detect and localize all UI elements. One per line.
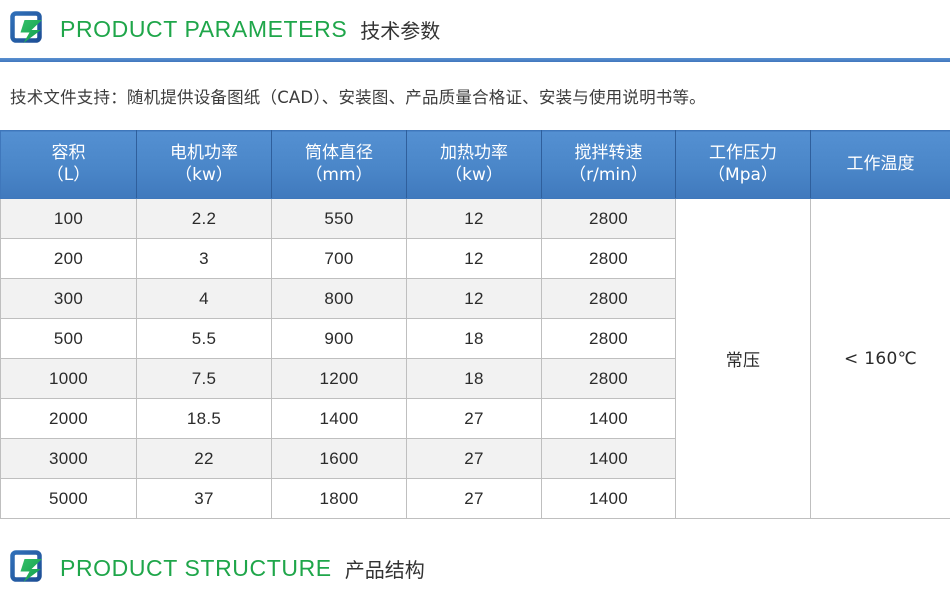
cell-motor-power: 7.5 (137, 359, 272, 399)
table-header-row: 容积 （L） 电机功率 （kw） 筒体直径 （mm） 加热功率 （kw） (1, 131, 950, 199)
th-stir-speed: 搅拌转速 （r/min） (542, 131, 676, 199)
th-barrel-diameter: 筒体直径 （mm） (272, 131, 407, 199)
cell-stir-speed: 2800 (542, 319, 676, 359)
cell-barrel-diameter: 1800 (272, 479, 407, 519)
th-heating-power-unit: （kw） (407, 165, 541, 187)
cell-motor-power: 2.2 (137, 199, 272, 239)
cell-stir-speed: 1400 (542, 479, 676, 519)
cell-volume: 5000 (1, 479, 137, 519)
th-motor-power: 电机功率 （kw） (137, 131, 272, 199)
th-working-temperature-name: 工作温度 (811, 154, 950, 176)
th-motor-power-name: 电机功率 (137, 143, 271, 165)
cell-stir-speed: 2800 (542, 199, 676, 239)
th-stir-speed-unit: （r/min） (542, 165, 675, 187)
th-working-pressure-unit: （Mpa） (676, 165, 810, 187)
cell-motor-power: 18.5 (137, 399, 272, 439)
cell-volume: 500 (1, 319, 137, 359)
th-volume-unit: （L） (1, 165, 136, 187)
cell-volume: 200 (1, 239, 137, 279)
cell-motor-power: 22 (137, 439, 272, 479)
cell-stir-speed: 2800 (542, 239, 676, 279)
th-heating-power-name: 加热功率 (407, 143, 541, 165)
section-header-parameters: PRODUCT PARAMETERS 技术参数 (0, 0, 950, 58)
th-volume: 容积 （L） (1, 131, 137, 199)
cell-motor-power: 5.5 (137, 319, 272, 359)
table-row: 100 2.2 550 12 2800 常压 < 160℃ (1, 199, 950, 239)
section-title-en-parameters: PRODUCT PARAMETERS (60, 16, 347, 43)
th-barrel-diameter-name: 筒体直径 (272, 143, 406, 165)
cell-motor-power: 37 (137, 479, 272, 519)
th-motor-power-unit: （kw） (137, 165, 271, 187)
section-header-structure: PRODUCT STRUCTURE 产品结构 (0, 539, 950, 593)
cell-heating-power: 27 (407, 479, 542, 519)
spec-table: 容积 （L） 电机功率 （kw） 筒体直径 （mm） 加热功率 （kw） (0, 130, 950, 519)
bolt-square-logo-icon (10, 11, 46, 47)
cell-barrel-diameter: 900 (272, 319, 407, 359)
bolt-square-logo-icon (10, 550, 46, 586)
cell-heating-power: 18 (407, 359, 542, 399)
th-working-temperature: 工作温度 (811, 131, 950, 199)
th-heating-power: 加热功率 （kw） (407, 131, 542, 199)
cell-volume: 1000 (1, 359, 137, 399)
section-title-cn-parameters: 技术参数 (360, 15, 440, 44)
cell-working-pressure: 常压 (676, 199, 811, 519)
cell-stir-speed: 2800 (542, 359, 676, 399)
cell-volume: 100 (1, 199, 137, 239)
cell-motor-power: 4 (137, 279, 272, 319)
cell-volume: 3000 (1, 439, 137, 479)
cell-stir-speed: 1400 (542, 399, 676, 439)
section-title-cn-structure: 产品结构 (345, 554, 425, 583)
th-stir-speed-name: 搅拌转速 (542, 143, 675, 165)
cell-volume: 300 (1, 279, 137, 319)
cell-heating-power: 12 (407, 239, 542, 279)
th-volume-name: 容积 (1, 143, 136, 165)
spec-table-wrapper: 容积 （L） 电机功率 （kw） 筒体直径 （mm） 加热功率 （kw） (0, 108, 950, 519)
th-barrel-diameter-unit: （mm） (272, 165, 406, 187)
cell-barrel-diameter: 1200 (272, 359, 407, 399)
cell-heating-power: 12 (407, 279, 542, 319)
cell-volume: 2000 (1, 399, 137, 439)
spec-table-body: 100 2.2 550 12 2800 常压 < 160℃ 200 3 700 … (1, 199, 950, 519)
intro-text: 技术文件支持：随机提供设备图纸（CAD）、安装图、产品质量合格证、安装与使用说明… (0, 62, 950, 108)
cell-barrel-diameter: 550 (272, 199, 407, 239)
cell-stir-speed: 2800 (542, 279, 676, 319)
section-title-en-structure: PRODUCT STRUCTURE (60, 555, 332, 582)
cell-barrel-diameter: 800 (272, 279, 407, 319)
cell-barrel-diameter: 700 (272, 239, 407, 279)
cell-barrel-diameter: 1400 (272, 399, 407, 439)
cell-motor-power: 3 (137, 239, 272, 279)
spec-table-head: 容积 （L） 电机功率 （kw） 筒体直径 （mm） 加热功率 （kw） (1, 131, 950, 199)
cell-heating-power: 12 (407, 199, 542, 239)
product-parameters-page: PRODUCT PARAMETERS 技术参数 技术文件支持：随机提供设备图纸（… (0, 0, 950, 593)
cell-barrel-diameter: 1600 (272, 439, 407, 479)
cell-heating-power: 27 (407, 439, 542, 479)
cell-heating-power: 18 (407, 319, 542, 359)
th-working-pressure-name: 工作压力 (676, 143, 810, 165)
cell-stir-speed: 1400 (542, 439, 676, 479)
cell-heating-power: 27 (407, 399, 542, 439)
cell-working-temperature: < 160℃ (811, 199, 950, 519)
th-working-pressure: 工作压力 （Mpa） (676, 131, 811, 199)
